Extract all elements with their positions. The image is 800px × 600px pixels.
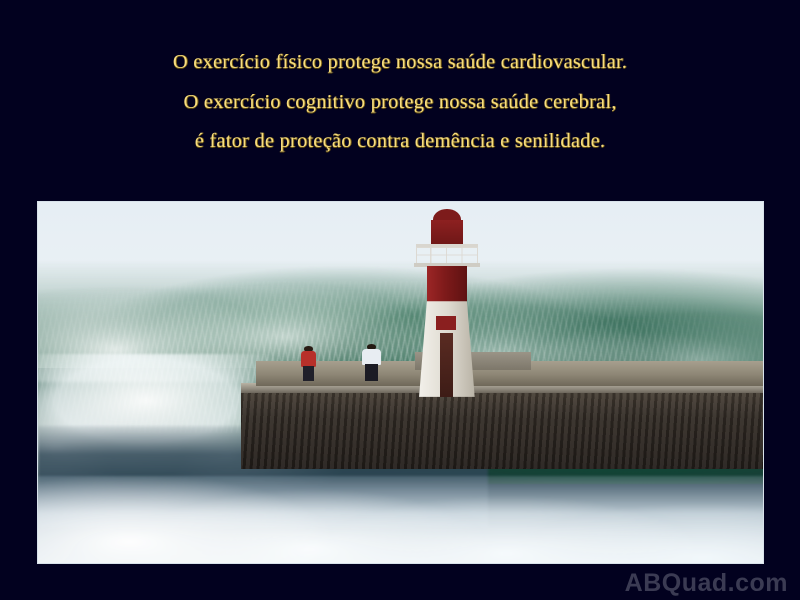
runner-legs [303, 366, 315, 381]
caption-line-2: O exercício cognitivo protege nossa saúd… [0, 92, 800, 113]
runner-torso [362, 349, 380, 365]
photo-frame [37, 201, 764, 564]
caption-line-3: é fator de proteção contra demência e se… [0, 131, 800, 152]
runner-red-shirt [299, 346, 318, 380]
caption-line-1: O exercício físico protege nossa saúde c… [0, 52, 800, 73]
caption-text-block: O exercício físico protege nossa saúde c… [0, 52, 800, 171]
wave-lighthouse-photo [38, 202, 763, 563]
lighthouse [403, 209, 490, 397]
breaking-surf-foreground [38, 476, 763, 563]
lighthouse-gallery-railing [416, 247, 479, 264]
watermark: ABQuad.com [625, 571, 788, 596]
lighthouse-lantern-room [431, 220, 462, 244]
runner-torso [301, 351, 316, 367]
runner-white-shirt [361, 344, 383, 380]
presentation-slide: O exercício físico protege nossa saúde c… [0, 0, 800, 600]
lighthouse-red-band [427, 266, 467, 302]
runner-legs [365, 364, 379, 381]
lighthouse-plaque [436, 316, 457, 330]
pier-stone-wall [241, 390, 763, 469]
lighthouse-door [440, 333, 453, 397]
